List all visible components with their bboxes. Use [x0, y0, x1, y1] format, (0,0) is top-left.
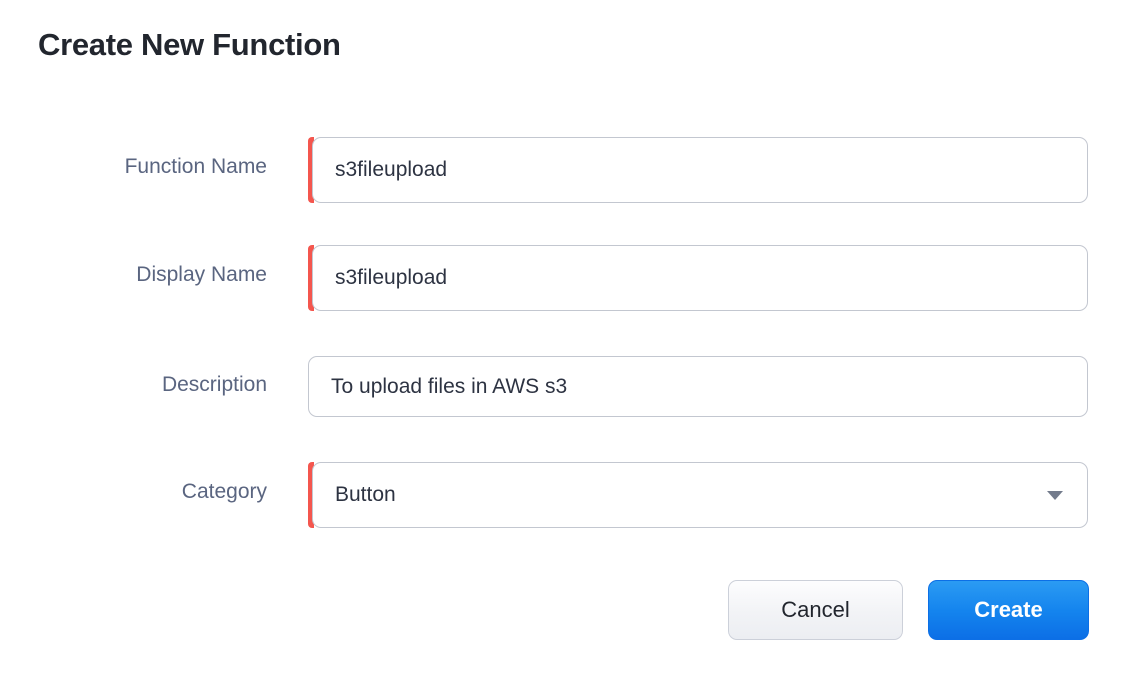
label-function-name: Function Name [0, 155, 267, 179]
category-selected-value: Button [313, 483, 396, 507]
create-function-dialog: Create New Function Function Name s3file… [0, 0, 1128, 682]
description-value: To upload files in AWS s3 [309, 375, 567, 399]
field-description: To upload files in AWS s3 [308, 356, 1088, 417]
field-display-name: s3fileupload [308, 245, 1088, 311]
page-title: Create New Function [38, 27, 341, 63]
chevron-down-icon[interactable] [1047, 491, 1063, 500]
field-function-name: s3fileupload [308, 137, 1088, 203]
field-category: Button [308, 462, 1088, 528]
function-name-value: s3fileupload [313, 158, 447, 182]
create-button[interactable]: Create [928, 580, 1089, 640]
description-input[interactable]: To upload files in AWS s3 [308, 356, 1088, 417]
label-category: Category [0, 480, 267, 504]
display-name-value: s3fileupload [313, 266, 447, 290]
cancel-button[interactable]: Cancel [728, 580, 903, 640]
label-description: Description [0, 373, 267, 397]
label-display-name: Display Name [0, 263, 267, 287]
display-name-input[interactable]: s3fileupload [312, 245, 1088, 311]
function-name-input[interactable]: s3fileupload [312, 137, 1088, 203]
category-select[interactable]: Button [312, 462, 1088, 528]
